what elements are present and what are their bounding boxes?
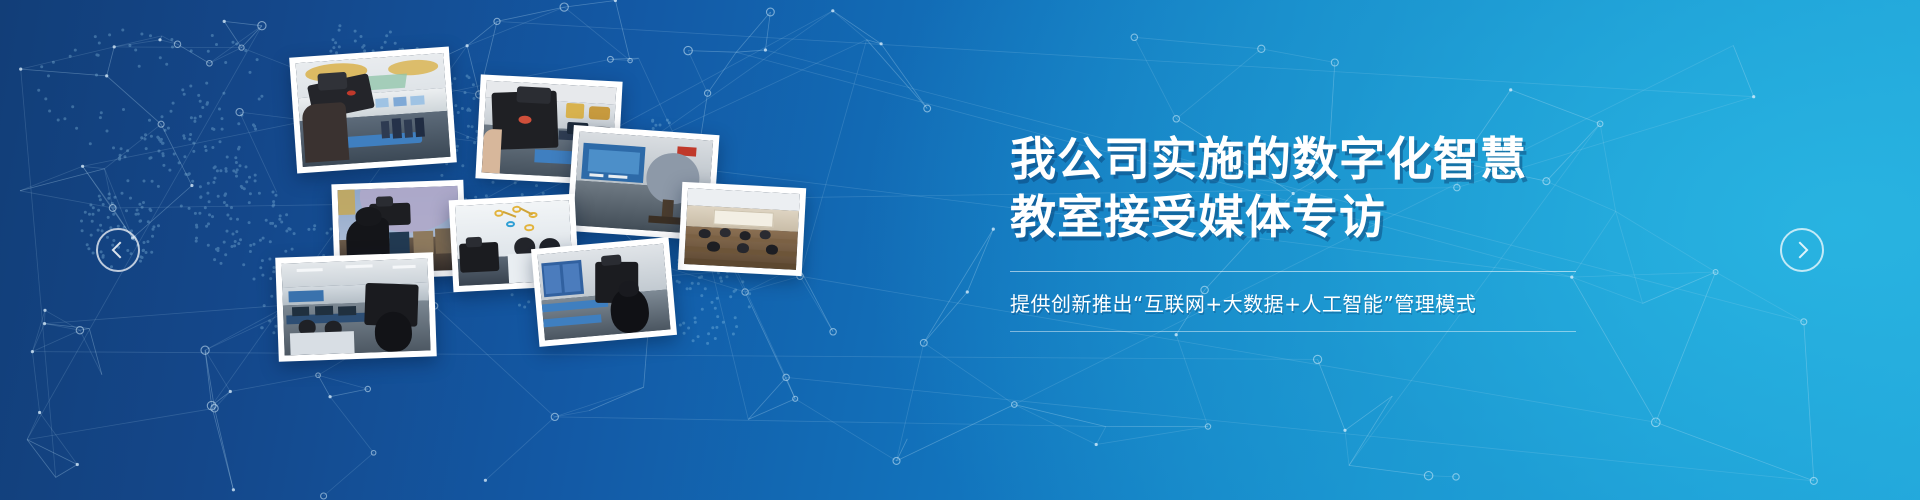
chevron-left-icon bbox=[112, 242, 129, 259]
copy-divider-top bbox=[1010, 271, 1576, 272]
copy-divider-bottom bbox=[1010, 331, 1576, 332]
headline-line-1: 我公司实施的数字化智慧 bbox=[1010, 130, 1610, 188]
photo-lecture-hall-back bbox=[678, 182, 806, 276]
headline-line-2: 教室接受媒体专访 bbox=[1010, 188, 1610, 246]
banner-subtitle: 提供创新推出“互联网+大数据+人工智能”管理模式 bbox=[1010, 288, 1610, 317]
carousel-prev-button[interactable] bbox=[96, 228, 140, 272]
banner-copy: 我公司实施的数字化智慧 教室接受媒体专访 提供创新推出“互联网+大数据+人工智能… bbox=[1010, 130, 1610, 332]
photo-cameraman-blue-desks bbox=[531, 237, 677, 347]
hero-banner: 我公司实施的数字化智慧 教室接受媒体专访 提供创新推出“互联网+大数据+人工智能… bbox=[0, 0, 1920, 500]
chevron-right-icon bbox=[1792, 242, 1809, 259]
carousel-next-button[interactable] bbox=[1780, 228, 1824, 272]
photo-cameraman-classroom-wide bbox=[289, 47, 457, 174]
photo-computer-classroom-row bbox=[275, 252, 437, 361]
